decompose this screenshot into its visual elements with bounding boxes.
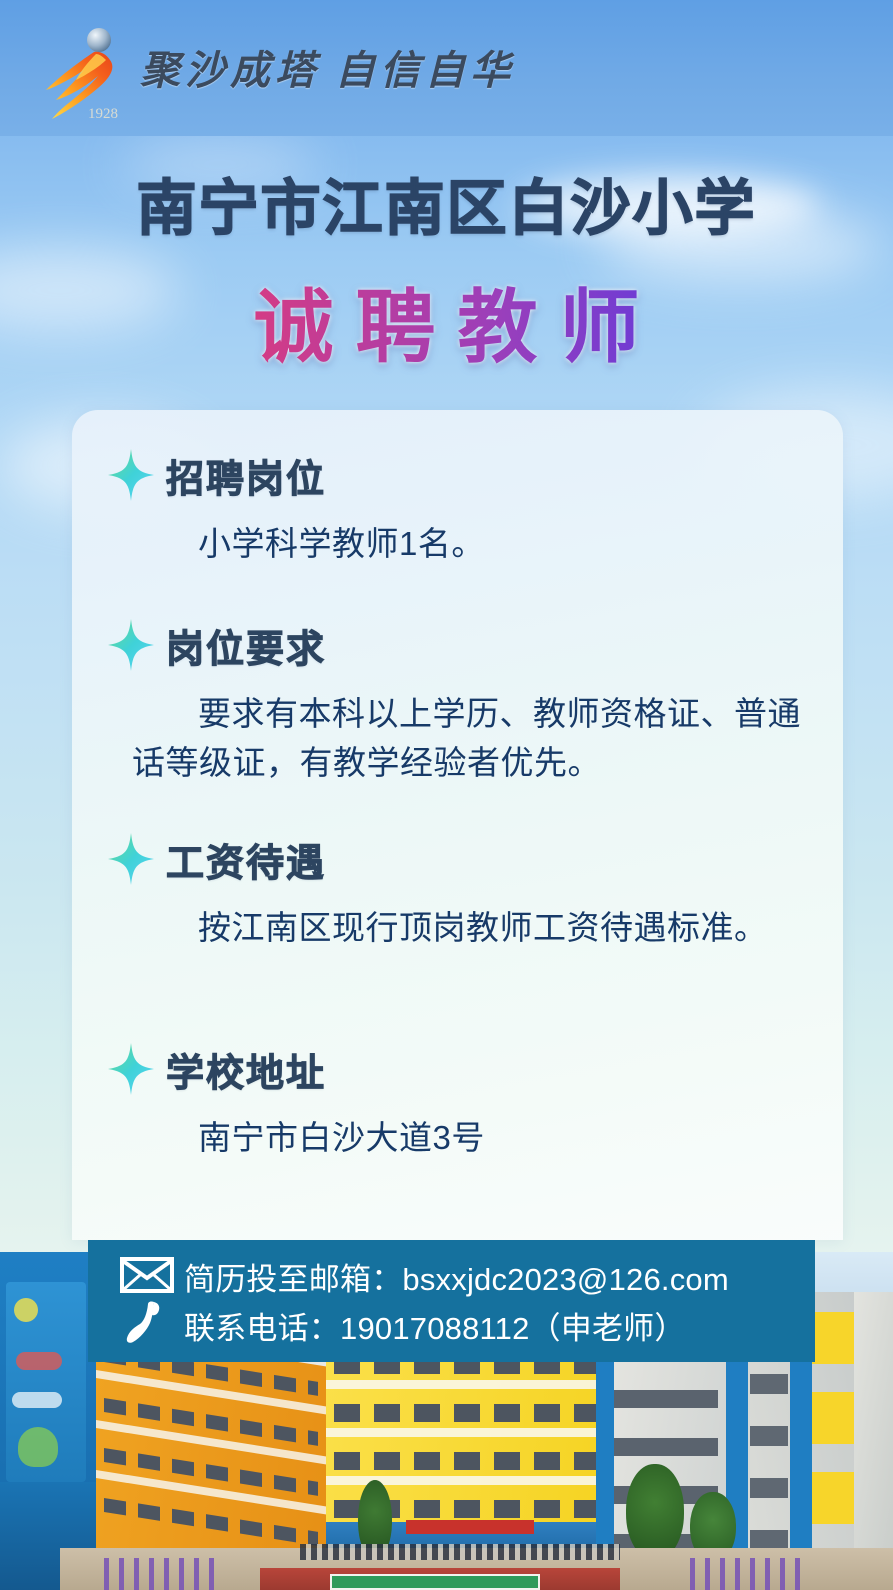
photo-railing <box>104 1558 224 1590</box>
photo-yellow-band <box>326 1428 606 1437</box>
contact-bar: 简历投至邮箱：bsxxjdc2023@126.com 联系电话：19017088… <box>88 1240 815 1362</box>
section-header: 学校地址 <box>72 1040 843 1098</box>
school-slogan: 聚沙成塔 自信自华 <box>140 38 515 96</box>
section-title: 学校地址 <box>166 1042 326 1097</box>
photo-mural-art <box>18 1427 58 1467</box>
content-card: 招聘岗位 小学科学教师1名。 岗位要求 要求有本科以上学历、教师资格证、普通话等… <box>72 410 843 1240</box>
contact-icon-column <box>110 1256 184 1346</box>
section-job-requirements: 岗位要求 要求有本科以上学历、教师资格证、普通话等级证，有教学经验者优先。 <box>72 616 843 788</box>
baisha-primary-school-logo: 1928 <box>36 22 140 126</box>
photo-court-green <box>330 1574 540 1590</box>
photo-tree <box>626 1464 684 1560</box>
section-title: 岗位要求 <box>166 618 326 673</box>
section-body: 要求有本科以上学历、教师资格证、普通话等级证，有教学经验者优先。 <box>72 690 843 788</box>
logo-year: 1928 <box>88 106 118 122</box>
section-header: 岗位要求 <box>72 616 843 674</box>
section-body: 按江南区现行顶岗教师工资待遇标准。 <box>72 904 843 953</box>
sparkle-icon <box>108 449 154 501</box>
photo-mural-art <box>14 1298 38 1322</box>
envelope-icon <box>120 1256 174 1294</box>
photo-students-row <box>300 1544 620 1560</box>
top-banner: 1928 聚沙成塔 自信自华 <box>0 0 893 136</box>
phone-icon <box>124 1300 170 1346</box>
sparkle-icon <box>108 1043 154 1095</box>
section-body: 南宁市白沙大道3号 <box>72 1114 843 1163</box>
photo-right-edge-wall <box>854 1292 893 1590</box>
contact-text-column: 简历投至邮箱：bsxxjdc2023@126.com 联系电话：19017088… <box>184 1254 729 1348</box>
headline-recruiting-teachers: 诚聘教师 <box>0 263 893 379</box>
sparkle-icon <box>108 833 154 885</box>
sparkle-icon <box>108 619 154 671</box>
photo-right-yellow-panel <box>812 1392 854 1444</box>
photo-yellow-windows <box>334 1452 598 1470</box>
photo-railing <box>690 1558 800 1590</box>
photo-yellow-windows <box>334 1404 598 1422</box>
photo-yellow-band <box>326 1380 606 1389</box>
school-name: 南宁市江南区白沙小学 <box>0 160 893 247</box>
contact-email[interactable]: 简历投至邮箱：bsxxjdc2023@126.com <box>184 1254 729 1299</box>
photo-mural-art <box>12 1392 62 1408</box>
section-school-address: 学校地址 南宁市白沙大道3号 <box>72 1040 843 1163</box>
photo-right-yellow-panel <box>812 1472 854 1524</box>
section-job-position: 招聘岗位 小学科学教师1名。 <box>72 446 843 569</box>
section-body: 小学科学教师1名。 <box>72 520 843 569</box>
photo-right-yellow-panel <box>812 1312 854 1364</box>
section-title: 招聘岗位 <box>166 448 326 503</box>
contact-phone[interactable]: 联系电话：19017088112（申老师） <box>184 1303 729 1348</box>
section-header: 招聘岗位 <box>72 446 843 504</box>
photo-banner-red <box>406 1520 534 1534</box>
recruitment-poster: 1928 聚沙成塔 自信自华 南宁市江南区白沙小学 诚聘教师 <box>0 0 893 1590</box>
photo-mural-art <box>16 1352 62 1370</box>
section-salary: 工资待遇 按江南区现行顶岗教师工资待遇标准。 <box>72 830 843 953</box>
section-header: 工资待遇 <box>72 830 843 888</box>
section-title: 工资待遇 <box>166 832 326 887</box>
